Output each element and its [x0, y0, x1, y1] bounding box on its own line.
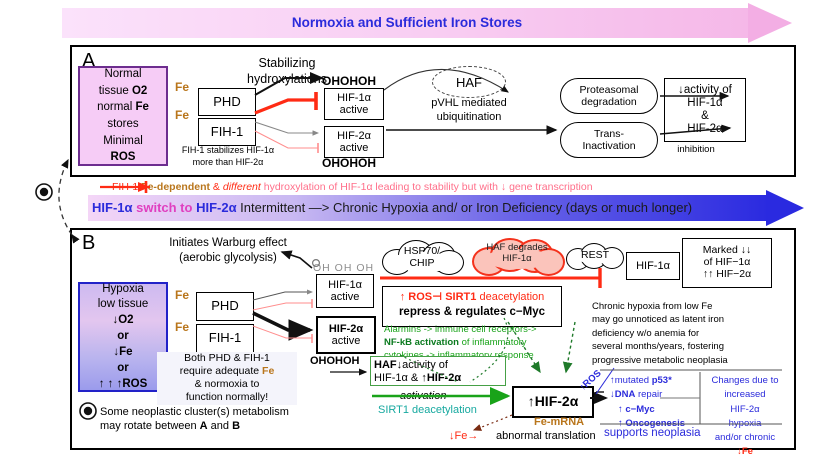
pvhl-1: pVHL mediated	[431, 97, 506, 109]
chg-l4: hypoxia	[729, 418, 762, 429]
hafdeg-l1: HAF degrades	[486, 242, 547, 253]
panel-a-source-box: Normal tissue O2 normal Fe stores Minima…	[78, 66, 168, 166]
panel-b-fe-bottom: Fe	[175, 320, 189, 334]
hyp-l3: ↓O2	[112, 314, 133, 326]
legend-p3: &	[210, 181, 223, 193]
rossirt-a: ↑ ROS⊣	[400, 291, 446, 303]
out-l2a: ↓DNA	[610, 389, 635, 400]
abnormal-translation-label: abnormal translation	[496, 430, 596, 443]
mid-p1: HIF-1α	[92, 200, 133, 215]
out-l3: ↑ c−Myc	[618, 404, 655, 415]
banner-arrowhead	[748, 3, 792, 43]
res-l3: &	[701, 110, 709, 122]
out-l1b: p53*	[652, 375, 672, 386]
fih-note-1: FIH-1 stabilizes HIF-1α	[182, 145, 274, 155]
normal-l6: ROS	[111, 151, 136, 163]
warburg-2: (aerobic glycolysis)	[179, 252, 277, 264]
panel-b-letter: B	[82, 232, 95, 255]
panel-a-hif1a-box: HIF-1αactive	[324, 88, 384, 120]
normal-l4: stores	[107, 118, 138, 130]
mid-p4: Intermittent —> Chronic Hypoxia and/ or …	[237, 200, 693, 215]
chg-l6: ↓Fe	[737, 446, 753, 457]
rotate-l1: Some neoplastic cluster(s) metabolism	[100, 406, 289, 418]
a-hif2a-l1: HIF-2α	[337, 130, 371, 142]
banner-label: Normoxia and Sufficient Iron Stores	[62, 8, 752, 38]
panel-a-hif2a-box: HIF-2αactive	[324, 126, 384, 158]
hsp70-l1: HSP70/	[404, 245, 440, 257]
hyp-l4: or	[117, 330, 129, 342]
panel-b-fe-top: Fe	[175, 288, 189, 302]
res-l4: HIF-2α	[687, 123, 722, 135]
hafact-c: HIF-1α &	[374, 372, 421, 384]
both-l1: Both PHD & FIH-1	[184, 352, 270, 364]
panel-a-oh-top: OHOHOH	[322, 74, 376, 88]
normal-l5: Minimal	[103, 135, 143, 147]
out-l1a: ↑mutated	[610, 375, 652, 386]
trans-l1: Trans-	[594, 128, 624, 140]
panel-b-warburg-label: Initiates Warburg effect (aerobic glycol…	[138, 236, 318, 266]
panel-a-result-box: ↓activity of HIF-1α & HIF-2α	[664, 78, 746, 142]
hsp70-chip-cloud: HSP70/ CHIP	[380, 240, 464, 274]
chg-l2: increased	[724, 389, 765, 400]
pvhl-2: ubiquitination	[437, 111, 502, 123]
a-hif1a-l2: active	[340, 104, 369, 116]
legend-p4: different	[223, 181, 261, 193]
stabilizing-1: Stabilizing	[259, 56, 316, 70]
hafact-a: HAF	[374, 359, 397, 371]
alarm-l1: Alarmins -> immune cell receptors->	[384, 324, 537, 335]
stabilizing-2: hydroxylations	[247, 72, 327, 86]
panel-b-hif1a-plain-box: HIF-1α	[626, 252, 680, 280]
panel-b-source-box: Hypoxia low tissue ↓O2 or ↓Fe or ↑ ↑ ↑RO…	[78, 282, 168, 392]
hyp-l2: low tissue	[98, 298, 149, 310]
supports-neoplasia-label: supports neoplasia	[604, 427, 701, 441]
chg-l5: and/or chronic	[715, 432, 775, 443]
hsp70-l2: CHIP	[409, 257, 434, 269]
rossirt-c: deacetylation	[476, 291, 544, 303]
b-hif1a-l2: active	[331, 291, 360, 303]
chron-l5: progressive metabolic neoplasia	[592, 355, 728, 366]
res-l1: ↓activity of	[678, 84, 732, 96]
panel-b-hif1a-box: HIF-1αactive	[316, 274, 374, 308]
rossirt-b: SIRT1	[445, 291, 476, 303]
panel-a-fe-top: Fe	[175, 80, 189, 94]
warburg-1: Initiates Warburg effect	[169, 237, 287, 249]
alarm-l2a: NF-kB activation	[384, 337, 459, 348]
activation-label: activation	[400, 390, 446, 403]
mid-arrow-label: HIF-1α switch to HIF-2α Intermittent —> …	[92, 195, 770, 221]
mid-p2: switch to	[133, 200, 197, 215]
a-hif1a-l1: HIF-1α	[337, 92, 371, 104]
fih-note-2: more than HIF-2α	[193, 157, 264, 167]
marked-l1: Marked ↓↓	[703, 244, 751, 256]
hypoxia-transition-arrow: HIF-1α switch to HIF-2α Intermittent —> …	[88, 195, 806, 221]
rest-label: REST	[566, 249, 624, 261]
transcr-2: inhibition	[677, 144, 715, 155]
chron-l1: Chronic hypoxia from low Fe	[592, 301, 712, 312]
alarm-l2b: of inflammatory	[459, 337, 527, 348]
both-l4: function normally!	[186, 391, 268, 403]
panel-a-proteasomal-pill: Proteasomaldegradation	[560, 78, 658, 114]
fe-mrna-label: Fe-mRNA	[534, 416, 584, 429]
panel-a-haf-oval: HAF	[432, 66, 506, 98]
trans-l2: Inactivation	[582, 140, 635, 152]
legend-p5: hydroxylation of HIF-1α leading to stabi…	[261, 181, 593, 193]
rossirt-l2: repress & regulates c−Myc	[399, 306, 545, 318]
panel-b-oh-faded: OH OH OH	[313, 262, 374, 275]
haf-degrades-cloud: HAF degrades HIF-1α	[472, 238, 562, 272]
chg-l1: Changes due to	[711, 375, 778, 386]
panel-b-fih1-box: FIH-1	[196, 324, 254, 353]
panel-b-marked-box: Marked ↓↓ of HIF−1α ↑↑ HIF−2α	[682, 238, 772, 288]
panel-a-fe-bottom: Fe	[175, 108, 189, 122]
panel-b-oh-bold: OHOHOH	[310, 355, 360, 368]
prot-l1: Proteasomal	[580, 84, 639, 96]
panel-b-both-note: Both PHD & FIH-1 require adequate Fe & n…	[157, 352, 297, 405]
panel-a-fih1-box: FIH-1	[198, 118, 256, 146]
rotate-l2: may rotate between A and B	[100, 420, 240, 432]
chron-l4: several months/years, fostering	[592, 341, 724, 352]
hyp-l7: ↑ ↑ ↑ROS	[99, 378, 148, 390]
mid-p3: HIF-2α	[196, 200, 237, 215]
ros-sirt1-box: ↑ ROS⊣ SIRT1 deacetylation repress & reg…	[382, 286, 562, 327]
middle-legend-text: FIH-1 Fe-dependent & different hydroxyla…	[112, 181, 593, 194]
b-hif2a-l2: active	[332, 335, 361, 347]
hafact-b: ↓activity of	[397, 359, 448, 371]
haf-activity-box: HAF↓activity of HIF-1α & ↑HIF-2α	[370, 356, 506, 386]
rotate-note: Some neoplastic cluster(s) metabolism ma…	[100, 405, 330, 434]
outcomes-list: ↑mutated p53* ↓DNA repair ↑ c−Myc ↑ Onco…	[610, 374, 702, 431]
b-hif1a-l1: HIF-1α	[328, 279, 362, 291]
legend-p2: Fe-dependent	[141, 181, 210, 193]
marked-l3: ↑↑ HIF−2α	[703, 268, 751, 280]
chron-l3: deficiency w/o anemia for	[592, 328, 699, 339]
panel-a-oh-bottom: OHOHOH	[322, 156, 376, 170]
fe-down-label: ↓Fe→	[449, 430, 478, 443]
panel-a-transinactivation-pill: Trans-Inactivation	[560, 122, 658, 158]
panel-b-hif2a-box: HIF-2αactive	[316, 316, 376, 354]
both-l3: & normoxia to	[195, 378, 260, 390]
legend-p1: FIH-1	[112, 181, 141, 193]
prot-l2: degradation	[581, 96, 636, 108]
panel-a-fih-note: FIH-1 stabilizes HIF-1α more than HIF-2α	[168, 145, 288, 168]
marked-l2: of HIF−1α	[704, 256, 751, 268]
normoxia-banner: Normoxia and Sufficient Iron Stores	[62, 8, 792, 38]
res-l2: HIF-1α	[687, 97, 722, 109]
panel-a-phd-box: PHD	[198, 88, 256, 116]
chg-l3: HIF-2α	[730, 404, 759, 415]
chron-l2: may go unnoticed as latent iron	[592, 314, 724, 325]
hyp-l6: or	[117, 362, 129, 374]
mid-arrow-arrowhead	[766, 190, 804, 226]
out-l2b: repair	[635, 389, 662, 400]
changes-list: Changes due to increased HIF-2α hypoxia …	[704, 374, 786, 460]
a-hif2a-l2: active	[340, 142, 369, 154]
hyp-l1: Hypoxia	[102, 283, 144, 295]
sirt1-deacetylation-label: SIRT1 deacetylation	[378, 404, 477, 417]
hafact-d: ↑HIF-2α	[421, 372, 461, 384]
panel-b-phd-box: PHD	[196, 292, 254, 321]
b-hif2a-l1: HIF-2α	[329, 323, 363, 335]
rest-cloud: REST	[566, 243, 624, 269]
normal-l1: Normal	[104, 68, 141, 80]
chronic-hypoxia-note: Chronic hypoxia from low Fe may go unnot…	[592, 300, 780, 367]
hafdeg-l2: HIF-1α	[502, 253, 531, 264]
hyp-l5: ↓Fe	[113, 346, 132, 358]
panel-a-pvhl-label: pVHL mediated ubiquitination	[404, 97, 534, 125]
